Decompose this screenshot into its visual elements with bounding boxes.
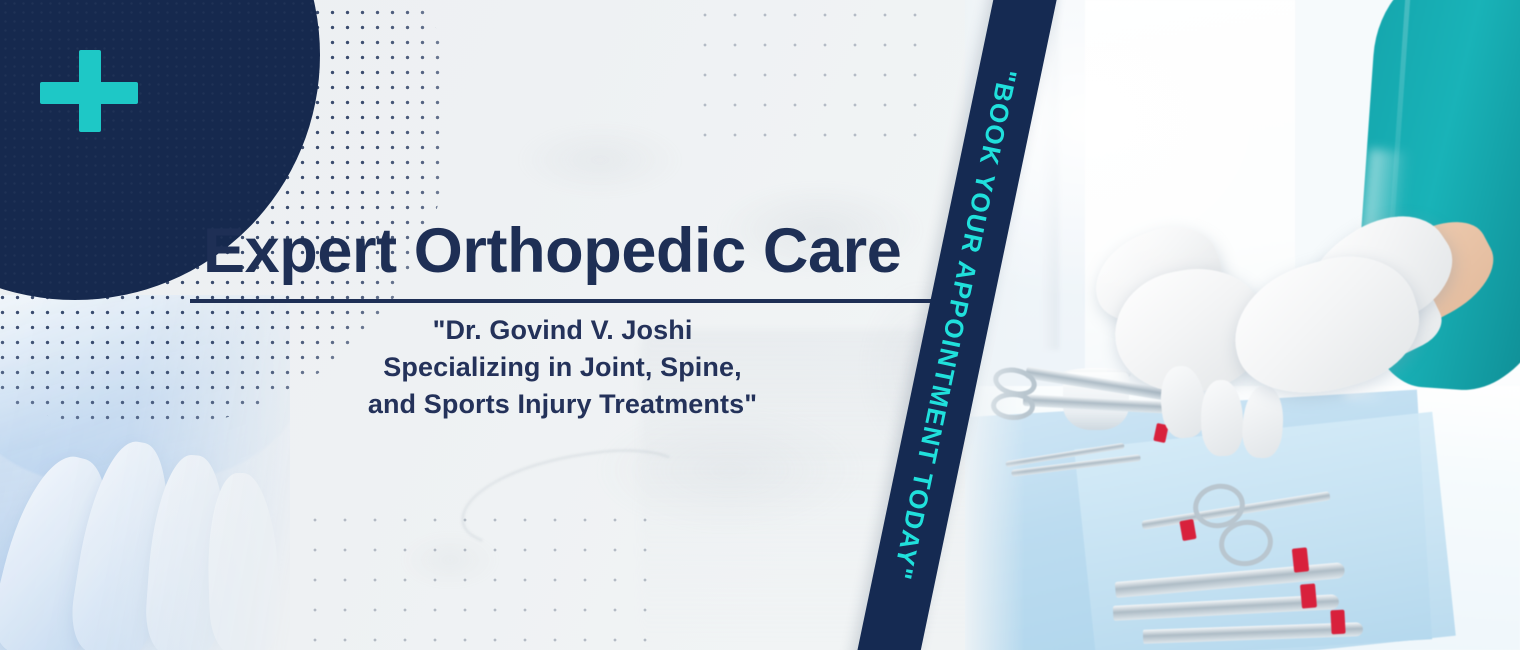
- headline-block: Expert Orthopedic Care: [190, 218, 950, 303]
- medical-cross-icon: [40, 50, 138, 132]
- subtitle-line-3: and Sports Injury Treatments": [190, 386, 935, 423]
- cross-horizontal-bar: [40, 82, 138, 104]
- title-underline-rule: [190, 299, 935, 303]
- orthopedic-care-banner: Expert Orthopedic Care "Dr. Govind V. Jo…: [0, 0, 1520, 650]
- instrument-red-marker: [1292, 547, 1309, 572]
- subtitle-line-1: "Dr. Govind V. Joshi: [190, 312, 935, 349]
- photo-left-fade: [965, 0, 1025, 650]
- page-title: Expert Orthopedic Care: [190, 218, 950, 284]
- photo-highlight: [965, 0, 1520, 330]
- dot-grid-pattern-bottom: [300, 505, 670, 650]
- subtitle-block: "Dr. Govind V. Joshi Specializing in Joi…: [190, 312, 935, 423]
- instrument-red-marker: [1300, 583, 1317, 608]
- dot-grid-pattern-top: [690, 0, 940, 150]
- instrument-red-marker: [1330, 610, 1345, 635]
- surgeon-preparing-instruments-photo: [965, 0, 1520, 650]
- subtitle-line-2: Specializing in Joint, Spine,: [190, 349, 935, 386]
